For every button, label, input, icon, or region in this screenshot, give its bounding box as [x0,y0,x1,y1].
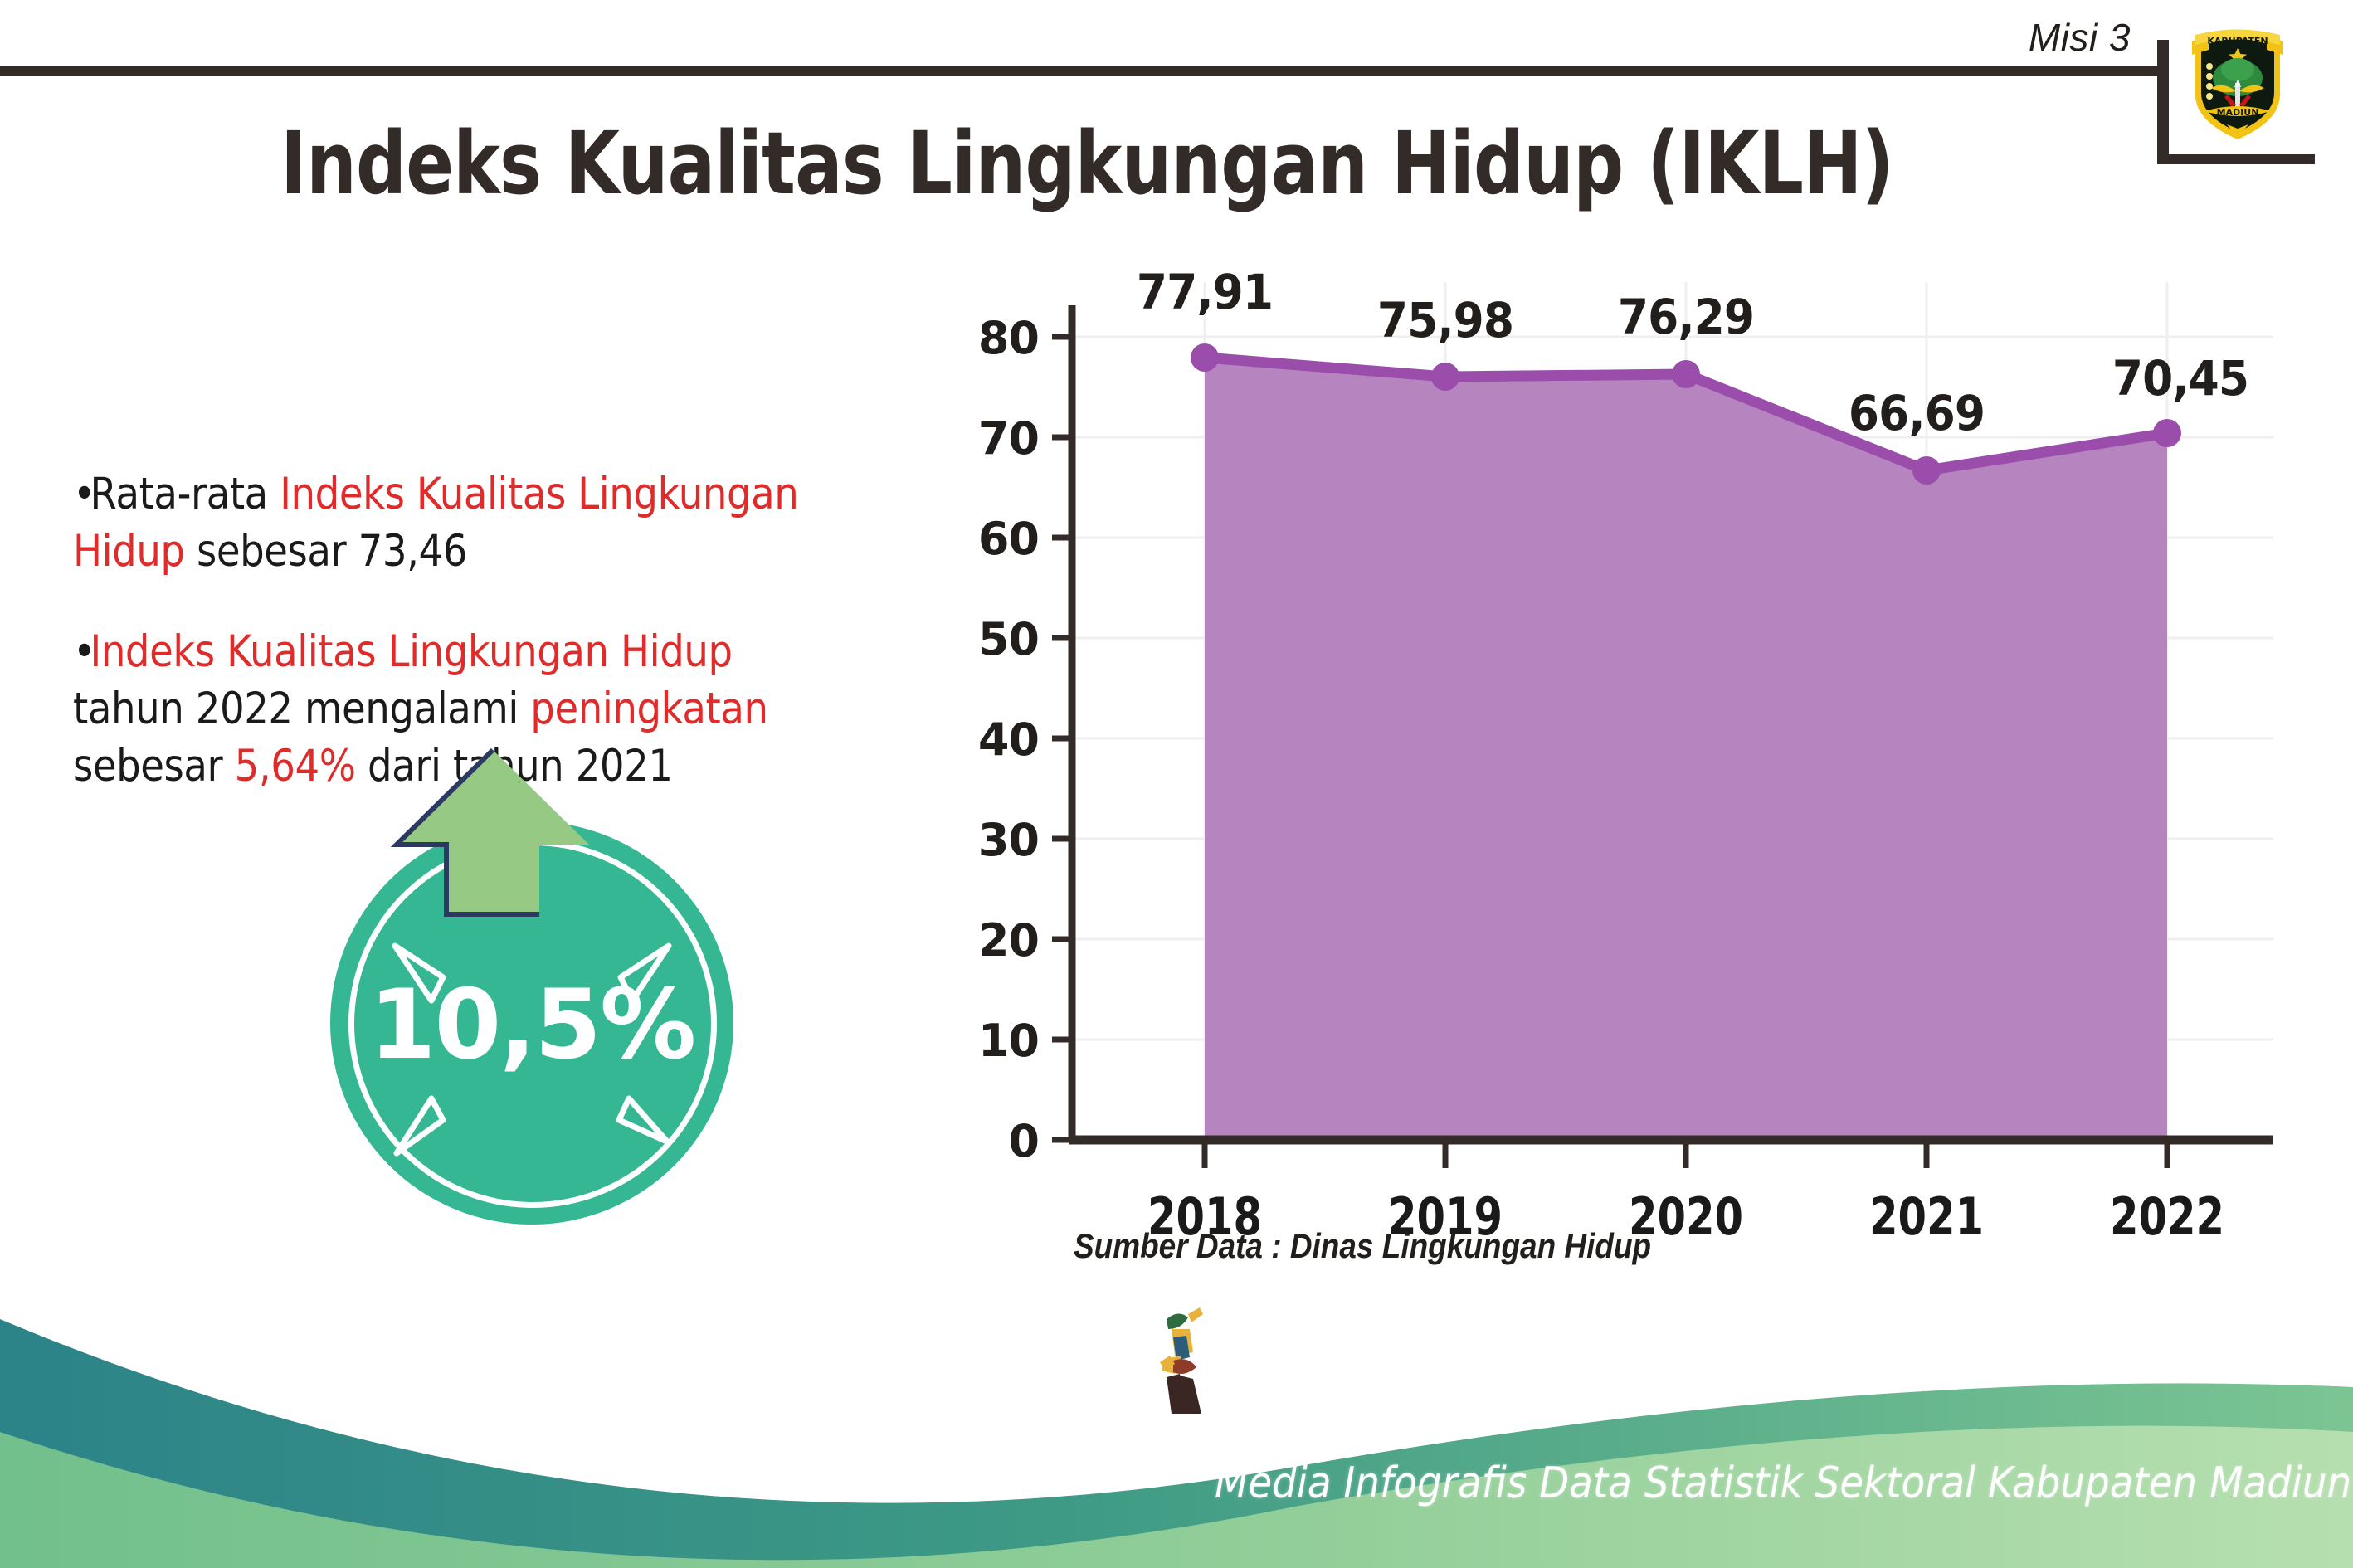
bullet-item-average: •Rata-rata Indeks Kualitas Lingkungan Hi… [73,466,847,581]
y-tick-label-40: 40 [948,713,1039,766]
bullet-text-plain-2: sebesar 73,46 [185,526,467,577]
page-title: Indeks Kualitas Lingkungan Hidup (IKLH) [196,113,1978,214]
iklh-area-chart: 80 70 60 50 40 30 20 10 0 2018 2019 2020… [979,282,2307,1303]
footer-caption: Media Infografis Data Statistik Sektoral… [1215,1458,2353,1508]
bullet-text-accent-3: peningkatan [530,684,767,734]
y-tick-label-70: 70 [948,412,1039,465]
x-tick-label-2021: 2021 [1844,1186,2010,1247]
growth-badge: 10,5% [330,821,733,1225]
bullet-dot-icon: • [73,466,90,523]
mission-label: Misi 3 [2029,15,2131,60]
bullet-dot-icon: • [73,624,90,681]
y-tick-label-20: 20 [948,914,1039,967]
bullet-text-plain-1: Rata-rata [90,469,280,519]
infographic-page: Misi 3 KABUPATEN MADIUN I [0,0,2353,1568]
y-tick-label-80: 80 [948,312,1039,364]
kabupaten-madiun-seal-icon: KABUPATEN MADIUN [2184,18,2292,143]
bullet-text-plain-3: tahun 2022 mengalami [73,684,530,734]
data-label-2018: 77,91 [1105,264,1303,320]
y-tick-label-50: 50 [948,613,1039,665]
y-tick-label-0: 0 [948,1115,1039,1167]
badge-value-text: 10,5% [330,969,733,1081]
data-label-2022: 70,45 [2081,350,2279,407]
y-tick-label-60: 60 [948,513,1039,565]
y-tick-label-10: 10 [948,1015,1039,1067]
header-divider-rule [0,66,2167,76]
chart-area-fill [1205,358,2167,1140]
y-tick-label-30: 30 [948,814,1039,866]
data-label-2019: 75,98 [1346,292,1544,348]
header-divider-cap [2157,40,2169,164]
bullet-text-accent-2: Indeks Kualitas Lingkungan Hidup [90,626,733,677]
bullet-text-plain-4: sebesar [73,741,235,791]
chart-source-caption: Sumber Data : Dinas Lingkungan Hidup [1074,1226,1651,1266]
data-label-2020: 76,29 [1586,289,1785,345]
bullet-text-accent-4: 5,64% [235,741,356,791]
page-footer [0,1286,2353,1568]
header-divider-foot [2157,154,2315,164]
svg-text:KABUPATEN: KABUPATEN [2207,36,2268,46]
statistik-figure-icon [1142,1304,1233,1420]
svg-text:MADIUN: MADIUN [2217,107,2259,118]
x-tick-label-2022: 2022 [2084,1186,2250,1247]
data-label-2021: 66,69 [1817,385,2015,441]
chart-plot-area [979,282,2307,1178]
